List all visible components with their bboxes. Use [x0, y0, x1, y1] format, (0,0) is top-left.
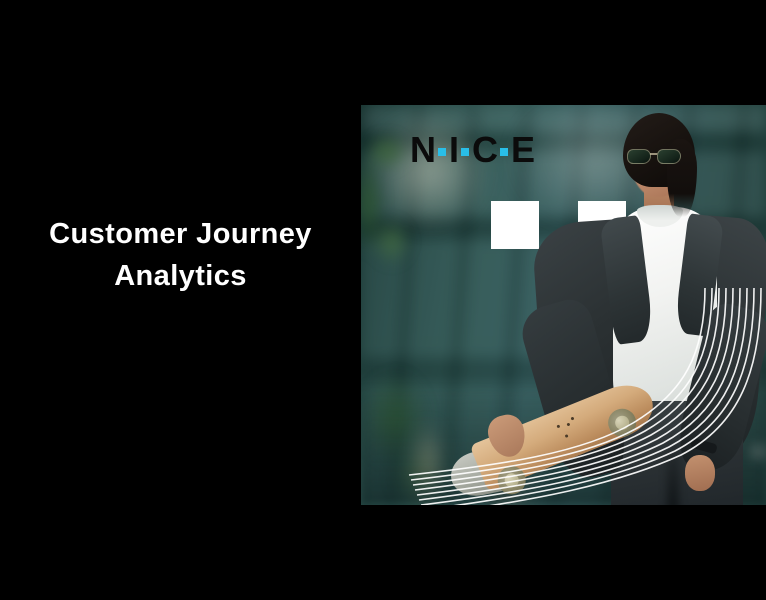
nice-logo-letter-e: E — [511, 132, 534, 168]
title-line-2: Analytics — [31, 255, 331, 297]
nice-logo-dot-2 — [461, 148, 469, 156]
title-panel: Customer Journey Analytics — [0, 105, 361, 505]
nice-logo-dot-1 — [438, 148, 446, 156]
page-title: Customer Journey Analytics — [31, 213, 331, 297]
nice-logo-letter-n: N — [410, 132, 435, 168]
nice-logo: N I C E — [410, 132, 534, 168]
hand-left-gripping-board — [484, 411, 529, 460]
nice-logo-letter-i: I — [449, 132, 458, 168]
hero-image-panel: N I C E — [361, 105, 766, 505]
nice-logo-letter-c: C — [472, 132, 497, 168]
nice-logo-dot-3 — [500, 148, 508, 156]
title-line-1: Customer Journey — [31, 213, 331, 255]
slide-canvas: Customer Journey Analytics — [0, 0, 766, 600]
